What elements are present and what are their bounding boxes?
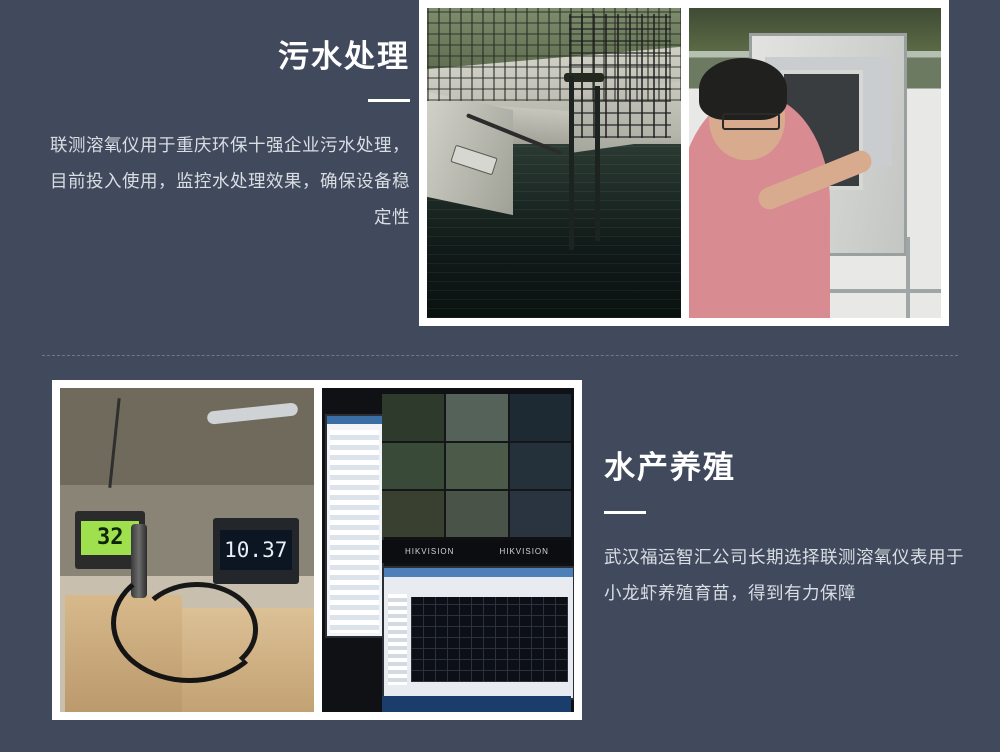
riser-pipe-1 <box>569 76 574 250</box>
glasses-icon <box>722 113 780 130</box>
video-wall <box>382 394 571 537</box>
meter-reading-2: 10.37 <box>220 530 292 570</box>
handrail-post-3 <box>906 237 910 318</box>
monitor-brand-bar: HIKVISION HIKVISION <box>382 540 571 563</box>
video-tile <box>382 491 444 537</box>
data-grid-chart <box>411 597 568 683</box>
photo-monitoring-room-screens: HIKVISION HIKVISION <box>322 388 574 712</box>
wastewater-body-text: 联测溶氧仪用于重庆环保十强企业污水处理，目前投入使用，监控水处理效果，确保设备稳… <box>40 128 410 236</box>
section-wastewater: 污水处理 联测溶氧仪用于重庆环保十强企业污水处理，目前投入使用，监控水处理效果，… <box>0 0 1000 330</box>
bottom-monitor <box>382 566 574 700</box>
video-tile <box>510 491 572 537</box>
left-monitor <box>325 414 384 638</box>
left-monitor-table <box>330 430 379 633</box>
page-title: 污水处理 <box>40 38 410 75</box>
brand-label-right: HIKVISION <box>499 547 548 556</box>
video-tile <box>382 443 444 489</box>
wastewater-text-block: 污水处理 联测溶氧仪用于重庆环保十强企业污水处理，目前投入使用，监控水处理效果，… <box>40 38 410 236</box>
aquaculture-text-block: 水产养殖 武汉福运智汇公司长期选择联测溶氧仪表用于小龙虾养殖育苗，得到有力保障 <box>604 442 964 612</box>
photo-technician-at-control-cabinet <box>689 8 941 318</box>
photo-field-instruments-on-cartons: 32 10.37 <box>60 388 314 712</box>
riser-pipe-2 <box>595 86 600 241</box>
page-root: 污水处理 联测溶氧仪用于重庆环保十强企业污水处理，目前投入使用，监控水处理效果，… <box>0 0 1000 752</box>
video-tile <box>382 394 444 440</box>
photo-wastewater-treatment-basins <box>427 8 681 318</box>
data-list-panel <box>388 594 407 685</box>
video-tile <box>446 443 508 489</box>
technician-hair <box>699 58 787 120</box>
video-tile <box>510 443 572 489</box>
windows-taskbar <box>382 696 571 712</box>
left-monitor-titlebar <box>327 416 382 424</box>
bottom-monitor-titlebar <box>384 568 573 577</box>
title-rule-aquaculture <box>604 511 646 514</box>
video-tile <box>446 491 508 537</box>
video-tile <box>446 394 508 440</box>
section-divider <box>42 355 958 357</box>
aquaculture-body-text: 武汉福运智汇公司长期选择联测溶氧仪表用于小龙虾养殖育苗，得到有力保障 <box>604 540 964 612</box>
title-rule <box>368 99 410 102</box>
section-aquaculture: 32 10.37 <box>0 380 1000 720</box>
coiled-cable-2 <box>136 582 258 676</box>
video-tile <box>510 394 572 440</box>
aquaculture-photo-group: 32 10.37 <box>52 380 582 720</box>
brand-label-left: HIKVISION <box>405 547 454 556</box>
section-title-aquaculture: 水产养殖 <box>604 442 964 487</box>
wastewater-photo-group <box>419 0 949 326</box>
